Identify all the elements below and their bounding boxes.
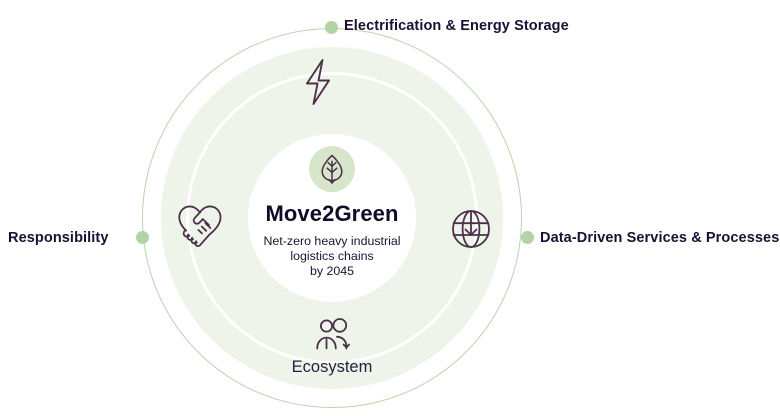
leaf-icon (309, 146, 355, 192)
lightning-bolt-icon (296, 57, 340, 107)
people-group-icon (313, 318, 353, 354)
core-content: Move2Green Net-zero heavy industrial log… (248, 134, 416, 302)
core-subtitle: Net-zero heavy industrial logistics chai… (263, 234, 400, 279)
node-dot-data-driven (521, 231, 534, 244)
pillar-label-ecosystem: Ecosystem (0, 358, 664, 377)
node-dot-electrification (325, 21, 338, 34)
node-dot-responsibility (136, 231, 149, 244)
handshake-heart-icon (174, 200, 226, 250)
globe-network-icon (447, 205, 495, 253)
page-title: Move2Green (265, 201, 398, 227)
pillar-label-electrification: Electrification & Energy Storage (344, 18, 569, 34)
pillar-label-data-driven: Data-Driven Services & Processes (540, 230, 779, 246)
diagram-canvas: Electrification & Energy Storage Data-Dr… (0, 0, 780, 416)
pillar-label-responsibility: Responsibility (8, 230, 109, 246)
